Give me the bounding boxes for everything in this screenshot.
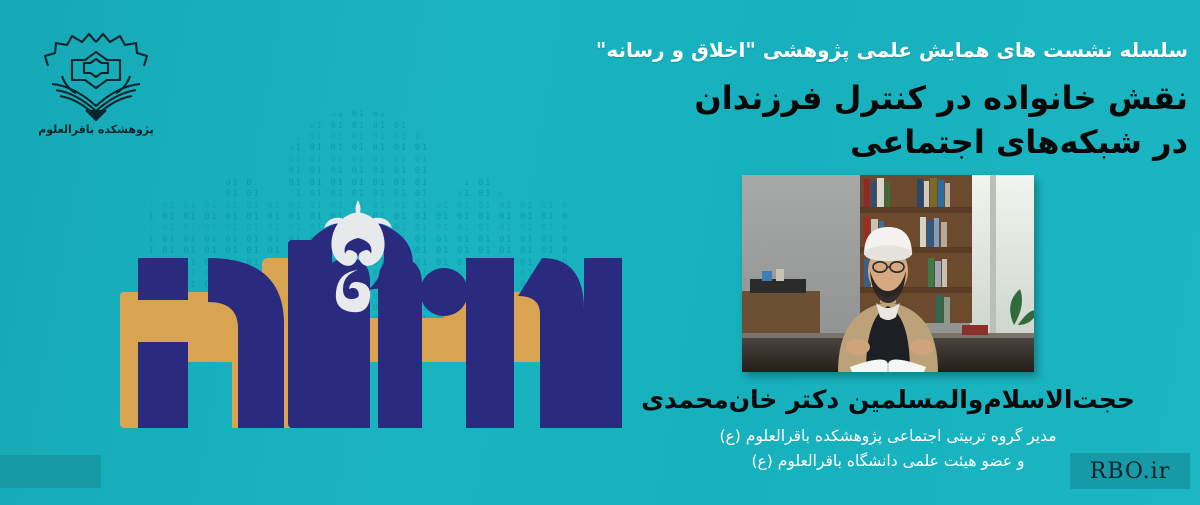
- binary-row: 01 01 01 01 01 01 01 01 01 01 01 01 01 0…: [120, 41, 600, 52]
- binary-row: 01 01 01 01 01 01 01 01 01 01 01 01 01 0…: [120, 121, 600, 132]
- watermark: RBO.ir: [1070, 453, 1190, 489]
- book-arch-emblem-icon: [32, 26, 160, 122]
- binary-row: 01 01 01 01 01 01 01 01 01 01 01 01 01 0…: [120, 166, 600, 177]
- binary-row: 01 01 01 01 01 01 01 01 01 01 01 01 01 0…: [120, 75, 600, 86]
- binary-row: 01 01 01 01 01 01 01 01 01 01 01 01 01 0…: [120, 132, 600, 143]
- organization-logo-caption: پژوهشکده باقرالعلوم: [32, 123, 160, 136]
- binary-row: 01 01 01 01 01 01 01 01 01 01 01 01 01 0…: [120, 29, 600, 40]
- binary-row: 01 01 01 01 01 01 01 01 01 01 01 01 01 0…: [120, 143, 600, 154]
- title-line-1: نقش خانواده در کنترل فرزندان: [588, 76, 1188, 120]
- watermark-text: RBO.ir: [1090, 459, 1170, 484]
- event-logotype: [112, 196, 632, 452]
- page-title: نقش خانواده در کنترل فرزندان در شبکه‌های…: [588, 76, 1188, 164]
- binary-row: 01 01 01 01 01 01 01 01 01 01 01 01 01 0…: [120, 86, 600, 97]
- binary-row: 01 01 01 01 01 01 01 01 01 01 01 01 01 0…: [120, 64, 600, 75]
- organization-logo: پژوهشکده باقرالعلوم: [32, 26, 160, 154]
- speaker-role-1: مدیر گروه تربیتی اجتماعی پژوهشکده باقرال…: [588, 424, 1188, 449]
- speaker-portrait-photo: [742, 175, 1034, 372]
- binary-row: 01 01 01 01 01 01 01 01 01 01 01 01 01 0…: [120, 18, 600, 29]
- bottom-left-accent-block: [0, 455, 101, 488]
- speaker-name: حجت‌الاسلام‌والمسلمین دکتر خان‌محمدی: [588, 384, 1188, 415]
- event-poster: 01 01 01 01 01 01 01 01 01 01 01 01 01 0…: [0, 0, 1200, 505]
- persian-calligraphy-logotype: [112, 196, 632, 452]
- binary-row: 01 01 01 01 01 01 01 01 01 01 01 01 01 0…: [120, 155, 600, 166]
- title-line-2: در شبکه‌های اجتماعی: [588, 120, 1188, 164]
- binary-row: 01 01 01 01 01 01 01 01 01 01 01 01 01 0…: [120, 178, 600, 189]
- binary-row: 01 01 01 01 01 01 01 01 01 01 01 01 01 0…: [120, 109, 600, 120]
- binary-row: 01 01 01 01 01 01 01 01 01 01 01 01 01 0…: [120, 52, 600, 63]
- series-subtitle: سلسله نشست‌ های همایش علمی پژوهشی "اخلاق…: [568, 36, 1188, 64]
- binary-row: 01 01 01 01 01 01 01 01 01 01 01 01 01 0…: [120, 98, 600, 109]
